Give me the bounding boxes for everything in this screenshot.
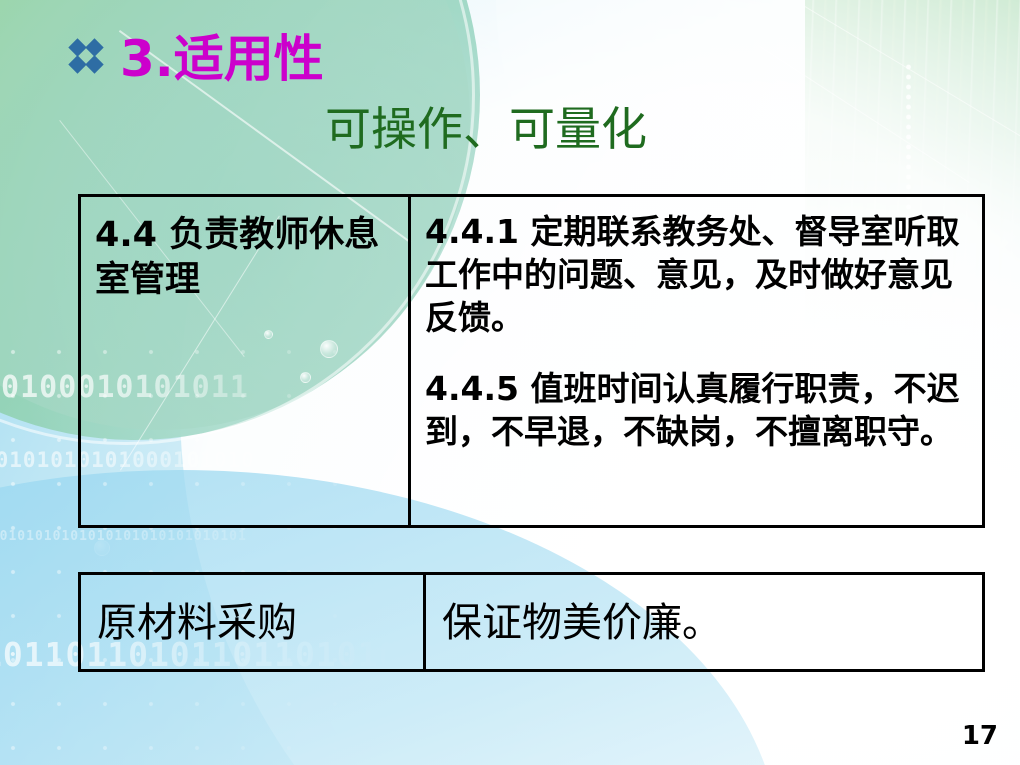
slide-title: 3.适用性 [66,34,324,84]
requirements-table: 4.4 负责教师休息室管理 4.4.1 定期联系教务处、督导室听取工作中的问题、… [78,194,985,528]
clause-number: 4.4 [95,215,157,255]
slide-canvas: 10100010101011 10101010101000101010101 0… [0,0,1020,765]
table-row: 4.4 负责教师休息室管理 4.4.1 定期联系教务处、督导室听取工作中的问题、… [80,196,984,527]
slide-title-text: 3.适用性 [120,34,324,84]
table-cell-detail: 保证物美价廉。 [425,574,984,671]
table-cell-detail: 4.4.1 定期联系教务处、督导室听取工作中的问题、意见，及时做好意见反馈。 4… [410,196,984,527]
table-cell-label: 4.4 负责教师休息室管理 [80,196,410,527]
clause-item-number: 4.4.1 [425,212,519,251]
table-cell-label: 原材料采购 [80,574,425,671]
clause-item: 4.4.5 值班时间认真履行职责，不迟到，不早退，不缺岗，不擅离职守。 [425,368,972,454]
diamond-cluster-bullet-icon [66,37,110,81]
clause-heading: 4.4 负责教师休息室管理 [95,213,398,303]
slide-content: 3.适用性 可操作、可量化 4.4 负责教师休息室管理 4.4.1 定期联系教务… [0,0,1020,765]
procurement-label: 原材料采购 [81,575,423,657]
slide-subtitle: 可操作、可量化 [325,104,647,155]
clause-item-number: 4.4.5 [425,369,519,408]
procurement-detail: 保证物美价廉。 [426,575,982,657]
table-row: 原材料采购 保证物美价廉。 [80,574,984,671]
clause-item: 4.4.1 定期联系教务处、督导室听取工作中的问题、意见，及时做好意见反馈。 [425,211,972,340]
page-number: 17 [962,721,998,751]
procurement-table: 原材料采购 保证物美价廉。 [78,572,985,672]
